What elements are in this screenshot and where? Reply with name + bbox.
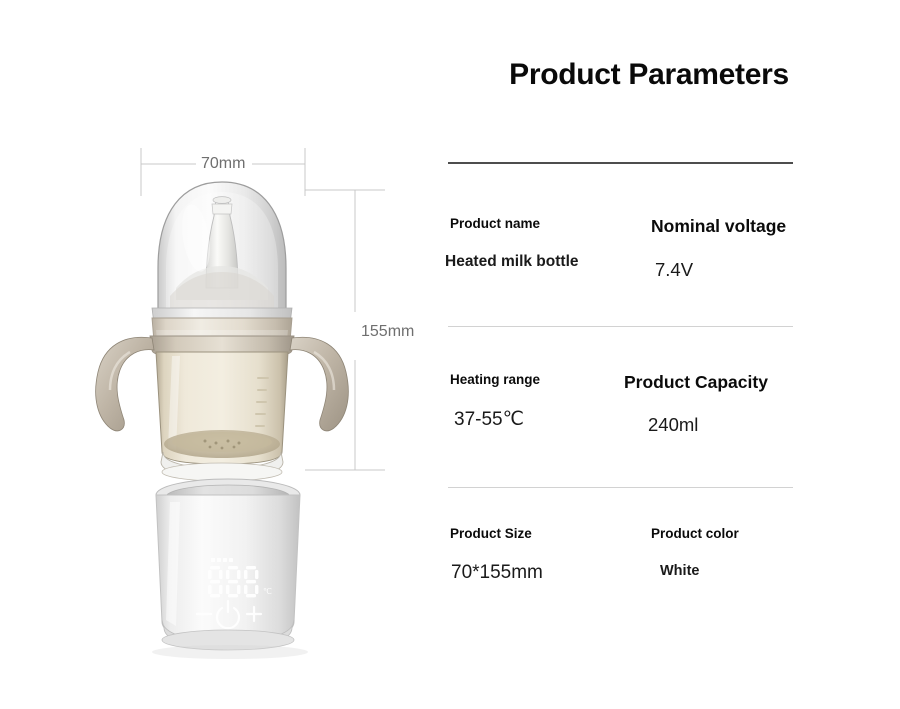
parameter-row: Heating range 37-55℃ Product Capacity 24… — [443, 372, 803, 482]
divider-top — [448, 162, 793, 164]
bottle-body — [156, 352, 288, 481]
parameter-row: Product Size 70*155mm Product color Whit… — [443, 526, 803, 636]
parameter-label: Heating range — [450, 372, 645, 387]
parameter-value: White — [660, 563, 811, 579]
parameter-row: Product name Heated milk bottle Nominal … — [443, 216, 803, 326]
product-illustration: ℃ 70mm 155mm — [0, 0, 440, 709]
parameter-label: Product Size — [450, 526, 645, 541]
parameter-cell-heating-range: Heating range 37-55℃ — [445, 372, 645, 431]
parameter-label: Product Capacity — [624, 372, 811, 393]
parameters-panel: Product Parameters Product name Heated m… — [443, 58, 883, 658]
parameter-label: Product name — [450, 216, 645, 231]
parameter-cell-product-capacity: Product Capacity 240ml — [621, 372, 811, 436]
heating-base-unit: ℃ — [156, 479, 300, 650]
bottle-cap — [152, 182, 292, 332]
divider-2 — [448, 487, 793, 488]
parameter-value: 240ml — [648, 414, 811, 436]
parameter-cell-product-color: Product color White — [621, 526, 811, 579]
parameter-cell-product-name: Product name Heated milk bottle — [445, 216, 645, 271]
parameter-label: Nominal voltage — [651, 216, 811, 237]
page-title: Product Parameters — [443, 58, 855, 92]
parameter-cell-product-size: Product Size 70*155mm — [445, 526, 645, 584]
width-dimension-label: 70mm — [196, 155, 250, 173]
parameter-label: Product color — [651, 526, 811, 541]
parameter-cell-nominal-voltage: Nominal voltage 7.4V — [621, 216, 811, 281]
parameter-value: 37-55℃ — [454, 408, 645, 431]
height-dimension-label: 155mm — [356, 323, 419, 341]
parameter-value: Heated milk bottle — [445, 253, 645, 271]
divider-1 — [448, 326, 793, 327]
parameter-value: 7.4V — [655, 259, 811, 281]
parameter-value: 70*155mm — [451, 562, 645, 584]
led-unit-label: ℃ — [263, 587, 272, 596]
